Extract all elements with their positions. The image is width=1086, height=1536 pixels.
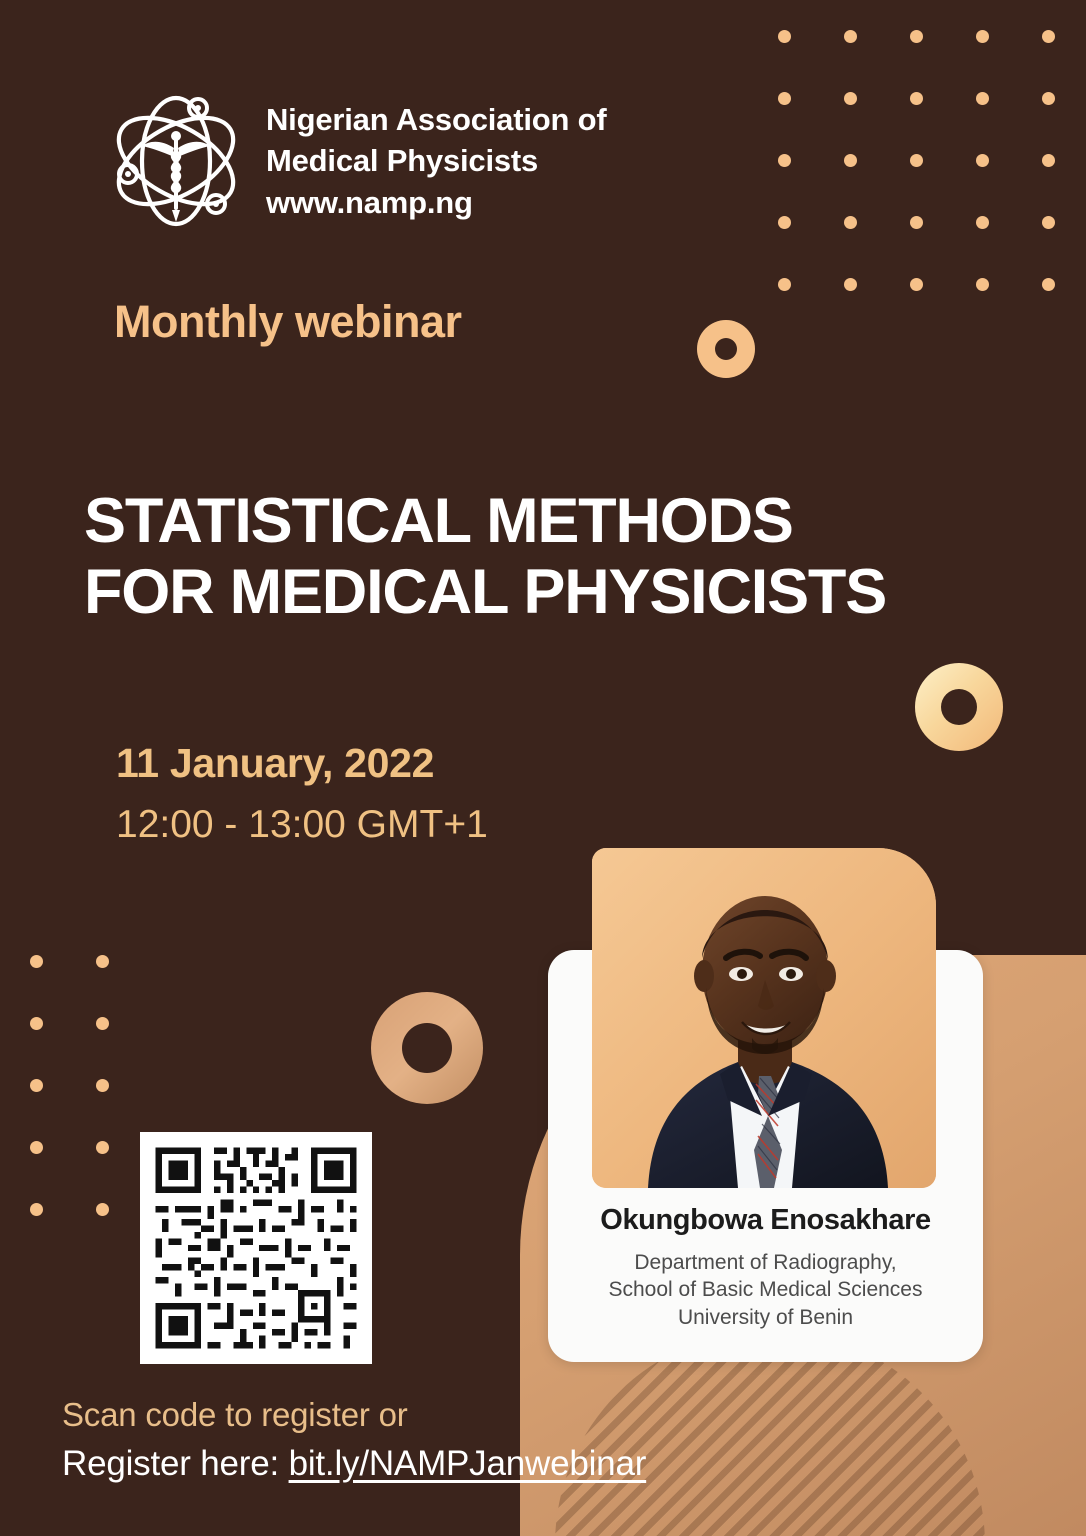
dot xyxy=(30,1141,43,1154)
dot-grid-top-right xyxy=(778,30,1086,340)
dot xyxy=(30,1017,43,1030)
ring-icon-small xyxy=(697,320,755,378)
dot xyxy=(1042,92,1055,105)
speaker-affiliation: Department of Radiography, School of Bas… xyxy=(548,1249,983,1331)
dot xyxy=(976,216,989,229)
dot xyxy=(844,30,857,43)
affiliation-line-2: School of Basic Medical Sciences xyxy=(548,1276,983,1303)
kicker-label: Monthly webinar xyxy=(114,296,462,348)
org-name-line2: Medical Physicists xyxy=(266,140,606,181)
speaker-portrait xyxy=(592,848,936,1188)
title-line-1: STATISTICAL METHODS xyxy=(84,486,1044,557)
dot xyxy=(976,278,989,291)
dot xyxy=(976,30,989,43)
dot xyxy=(778,278,791,291)
event-date: 11 January, 2022 xyxy=(116,740,488,787)
dot xyxy=(778,92,791,105)
affiliation-line-3: University of Benin xyxy=(548,1304,983,1331)
org-header: Nigerian Association of Medical Physicis… xyxy=(112,86,606,236)
dot xyxy=(96,1017,109,1030)
page-title: STATISTICAL METHODS FOR MEDICAL PHYSICIS… xyxy=(84,486,1044,627)
dot xyxy=(976,92,989,105)
org-name-line1: Nigerian Association of xyxy=(266,99,606,140)
dot xyxy=(778,216,791,229)
speaker-info: Okungbowa Enosakhare Department of Radio… xyxy=(548,1204,983,1331)
dot xyxy=(778,30,791,43)
event-time: 12:00 - 13:00 GMT+1 xyxy=(116,803,488,847)
dot xyxy=(844,216,857,229)
dot xyxy=(96,955,109,968)
dot xyxy=(1042,30,1055,43)
speaker-name: Okungbowa Enosakhare xyxy=(548,1204,983,1237)
qr-code-icon[interactable] xyxy=(140,1132,372,1364)
dot xyxy=(910,30,923,43)
ring-icon-large xyxy=(371,992,483,1104)
dot xyxy=(910,154,923,167)
dot xyxy=(30,1203,43,1216)
dot xyxy=(1042,216,1055,229)
dot xyxy=(844,154,857,167)
dot xyxy=(1042,154,1055,167)
dot xyxy=(910,278,923,291)
ring-icon-medium xyxy=(915,663,1003,751)
dot xyxy=(844,278,857,291)
dot xyxy=(1042,278,1055,291)
dot xyxy=(910,92,923,105)
dot xyxy=(96,1079,109,1092)
org-website[interactable]: www.namp.ng xyxy=(266,182,606,223)
atom-caduceus-icon xyxy=(112,86,240,236)
registration-link[interactable]: bit.ly/NAMPJanwebinar xyxy=(289,1444,647,1483)
webinar-poster: Nigerian Association of Medical Physicis… xyxy=(0,0,1086,1536)
scan-instruction: Scan code to register or xyxy=(62,1396,646,1434)
title-line-2: FOR MEDICAL PHYSICISTS xyxy=(84,557,1044,628)
dot xyxy=(96,1203,109,1216)
register-prefix: Register here: xyxy=(62,1444,289,1483)
affiliation-line-1: Department of Radiography, xyxy=(548,1249,983,1276)
dot xyxy=(976,154,989,167)
dot xyxy=(910,216,923,229)
registration-block: Scan code to register or Register here: … xyxy=(62,1396,646,1484)
dot xyxy=(30,1079,43,1092)
org-name-block: Nigerian Association of Medical Physicis… xyxy=(266,99,606,223)
dot xyxy=(844,92,857,105)
dot xyxy=(96,1141,109,1154)
dot xyxy=(778,154,791,167)
event-datetime: 11 January, 2022 12:00 - 13:00 GMT+1 xyxy=(116,740,488,847)
dot xyxy=(30,955,43,968)
register-instruction: Register here: bit.ly/NAMPJanwebinar xyxy=(62,1444,646,1484)
